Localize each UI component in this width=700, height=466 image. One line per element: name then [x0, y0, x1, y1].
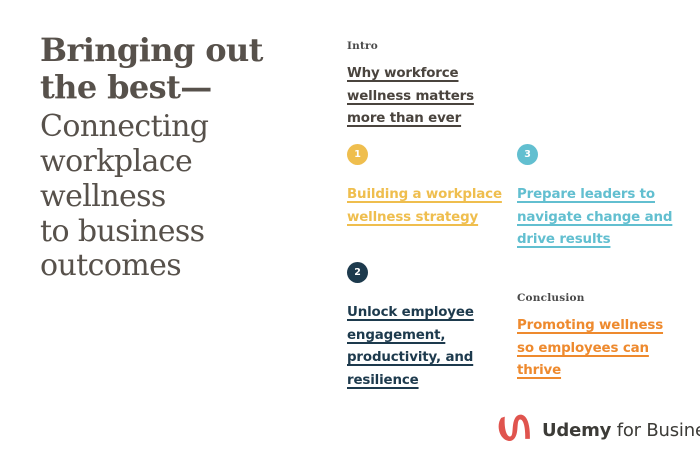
title-line-bold-1: Bringing out	[40, 32, 320, 69]
toc-badge-two: 2	[347, 262, 368, 283]
title-line-light-2: workplace	[40, 145, 320, 180]
title-line-light-5: outcomes	[40, 249, 320, 284]
toc-entry-conclusion: Conclusion Promoting wellness so employe…	[517, 292, 677, 382]
toc-badge-three: 3	[517, 144, 538, 165]
logo-brand: Udemy	[542, 420, 611, 441]
toc-link-three[interactable]: Prepare leaders to navigate change and d…	[517, 187, 672, 247]
toc-entry-three: 3 Prepare leaders to navigate change and…	[517, 144, 677, 251]
presentation-slide: Bringing out the best— Connecting workpl…	[0, 0, 700, 466]
title-line-light-4: to business	[40, 215, 320, 250]
logo-suffix: for Business	[611, 420, 700, 441]
toc-eyebrow-conclusion: Conclusion	[517, 292, 677, 304]
title-line-light-3: wellness	[40, 180, 320, 215]
page-title: Bringing out the best— Connecting workpl…	[40, 32, 320, 284]
udemy-u-icon	[497, 413, 533, 447]
table-of-contents: Intro Why workforce wellness matters mor…	[347, 40, 687, 390]
title-line-light-1: Connecting	[40, 110, 320, 145]
toc-badge-one: 1	[347, 144, 368, 165]
udemy-for-business-logo: Udemy for Business	[497, 413, 700, 447]
toc-entry-one: 1 Building a workplace wellness strategy	[347, 144, 507, 228]
title-line-bold-2: the best—	[40, 69, 320, 106]
toc-link-wrap-conclusion: Promoting wellness so employees can thri…	[517, 314, 677, 382]
toc-link-one[interactable]: Building a workplace wellness strategy	[347, 187, 502, 225]
toc-link-wrap-intro: Why workforce wellness matters more than…	[347, 62, 507, 130]
toc-link-wrap-three: Prepare leaders to navigate change and d…	[517, 183, 677, 251]
toc-link-conclusion[interactable]: Promoting wellness so employees can thri…	[517, 318, 663, 378]
toc-entry-intro: Intro Why workforce wellness matters mor…	[347, 40, 507, 130]
toc-link-two[interactable]: Unlock employee engagement, productivity…	[347, 305, 474, 388]
toc-eyebrow-intro: Intro	[347, 40, 507, 52]
toc-link-wrap-two: Unlock employee engagement, productivity…	[347, 301, 507, 392]
toc-link-intro[interactable]: Why workforce wellness matters more than…	[347, 66, 474, 126]
logo-wordmark: Udemy for Business	[542, 420, 700, 441]
toc-link-wrap-one: Building a workplace wellness strategy	[347, 183, 507, 228]
toc-entry-two: 2 Unlock employee engagement, productivi…	[347, 262, 507, 392]
